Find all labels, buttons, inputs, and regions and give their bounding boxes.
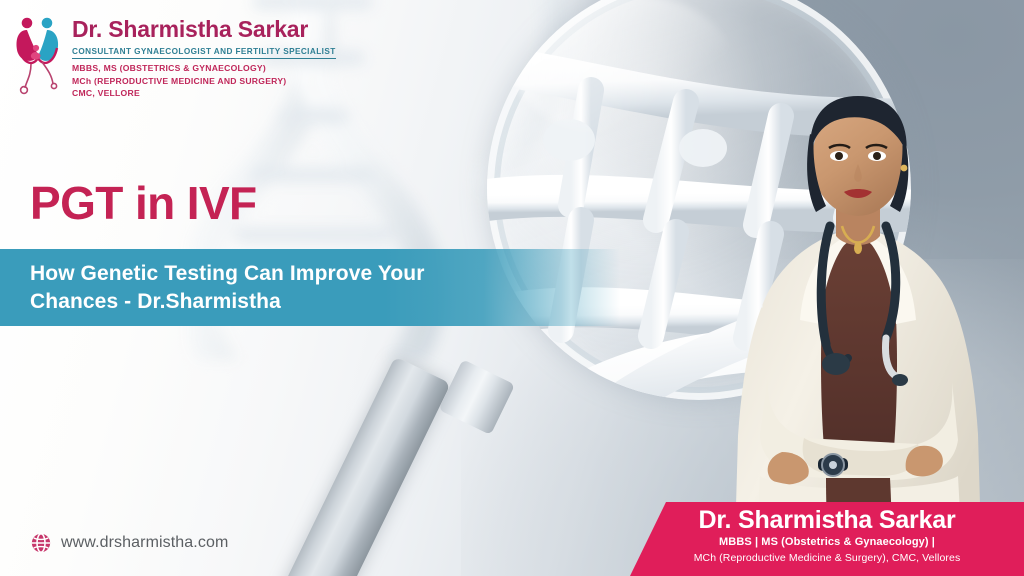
doctor-nameplate: Dr. Sharmistha Sarkar MBBS | MS (Obstetr… xyxy=(630,502,1024,576)
promo-banner: Dr. Sharmistha Sarkar CONSULTANT GYNAECO… xyxy=(0,0,1024,576)
nameplate-credentials-line-1: MBBS | MS (Obstetrics & Gynaecology) | xyxy=(630,534,1024,551)
subtitle-text: How Genetic Testing Can Improve Your Cha… xyxy=(0,260,425,316)
qualification-line-1: MBBS, MS (OBSTETRICS & GYNAECOLOGY) xyxy=(72,62,336,74)
headline-title: PGT in IVF xyxy=(30,180,257,226)
qualification-line-3: CMC, VELLORE xyxy=(72,87,336,99)
brand-text: Dr. Sharmistha Sarkar CONSULTANT GYNAECO… xyxy=(72,12,336,99)
subtitle-line-1: How Genetic Testing Can Improve Your xyxy=(30,260,425,288)
doctor-portrait xyxy=(708,76,1008,576)
globe-icon xyxy=(30,532,52,554)
brand-tagline: CONSULTANT GYNAECOLOGIST AND FERTILITY S… xyxy=(72,47,336,59)
mother-child-heart-logo-icon xyxy=(14,12,66,96)
qualification-line-2: MCh (REPRODUCTIVE MEDICINE AND SURGERY) xyxy=(72,75,336,87)
brand-logo: Dr. Sharmistha Sarkar CONSULTANT GYNAECO… xyxy=(14,12,336,99)
subtitle-line-2: Chances - Dr.Sharmistha xyxy=(30,288,425,316)
nameplate-credentials-line-2: MCh (Reproductive Medicine & Surgery), C… xyxy=(630,551,1024,566)
subtitle-band: How Genetic Testing Can Improve Your Cha… xyxy=(0,249,620,326)
brand-name: Dr. Sharmistha Sarkar xyxy=(72,18,336,41)
website-footer[interactable]: www.drsharmistha.com xyxy=(30,532,228,554)
website-url[interactable]: www.drsharmistha.com xyxy=(61,534,228,552)
nameplate-name: Dr. Sharmistha Sarkar xyxy=(630,506,1024,534)
brand-qualifications: MBBS, MS (OBSTETRICS & GYNAECOLOGY) MCh … xyxy=(72,62,336,99)
